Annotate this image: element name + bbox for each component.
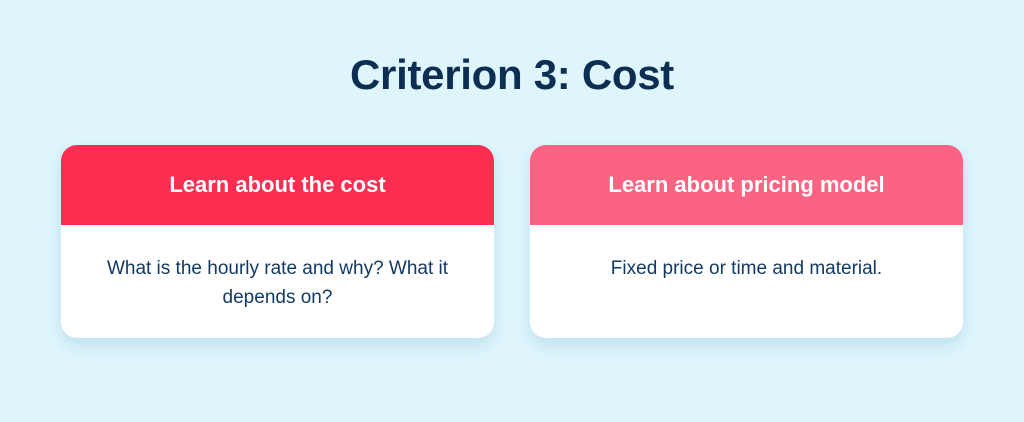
slide-canvas: Criterion 3: Cost Learn about the cost W… [0, 0, 1024, 422]
card-body-learn-about-the-cost: What is the hourly rate and why? What it… [61, 225, 494, 338]
card-header-title: Learn about pricing model [608, 172, 884, 198]
card-body-text: What is the hourly rate and why? What it… [87, 255, 468, 312]
card-header-title: Learn about the cost [169, 172, 385, 198]
card-body-learn-about-pricing-model: Fixed price or time and material. [530, 225, 963, 338]
page-title: Criterion 3: Cost [0, 52, 1024, 98]
card-header-learn-about-pricing-model: Learn about pricing model [530, 145, 963, 225]
cards-row: Learn about the cost What is the hourly … [61, 145, 963, 338]
card-learn-about-pricing-model[interactable]: Learn about pricing model Fixed price or… [530, 145, 963, 338]
card-body-text: Fixed price or time and material. [611, 255, 882, 284]
card-learn-about-the-cost[interactable]: Learn about the cost What is the hourly … [61, 145, 494, 338]
card-header-learn-about-the-cost: Learn about the cost [61, 145, 494, 225]
